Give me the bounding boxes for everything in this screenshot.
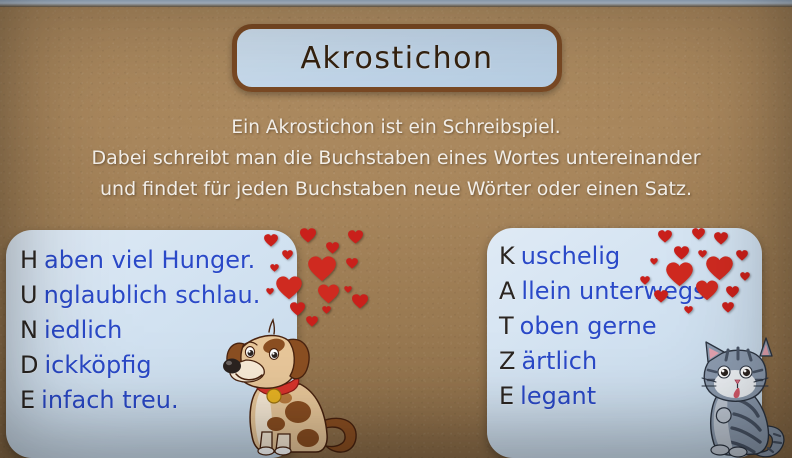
akrostichon-poster: Akrostichon Ein Akrostichon ist ein Schr… bbox=[0, 0, 792, 458]
acrostic-initial: E bbox=[20, 386, 35, 414]
acrostic-word: legant bbox=[520, 382, 596, 410]
acrostic-word: infach treu. bbox=[41, 386, 178, 414]
acrostic-word: iedlich bbox=[44, 316, 122, 344]
acrostic-initial: U bbox=[20, 281, 38, 309]
acrostic-line: K uschelig bbox=[499, 242, 762, 277]
acrostic-word: oben gerne bbox=[520, 312, 657, 340]
acrostic-word: nglaublich schlau. bbox=[44, 281, 261, 309]
acrostic-initial: D bbox=[20, 351, 38, 379]
acrostic-word: llein unterwegs bbox=[521, 277, 705, 305]
acrostic-line: A llein unterwegs bbox=[499, 277, 762, 312]
acrostic-word: ickköpfig bbox=[44, 351, 151, 379]
intro-paragraph: Ein Akrostichon ist ein Schreibspiel. Da… bbox=[0, 112, 792, 205]
acrostic-word: aben viel Hunger. bbox=[44, 246, 255, 274]
page-title: Akrostichon bbox=[300, 41, 493, 76]
acrostic-initial: A bbox=[499, 277, 515, 305]
title-plaque: Akrostichon bbox=[232, 24, 562, 92]
acrostic-word: ärtlich bbox=[521, 347, 597, 375]
acrostic-initial: H bbox=[20, 246, 38, 274]
acrostic-initial: K bbox=[499, 242, 515, 270]
acrostic-line: U nglaublich schlau. bbox=[20, 281, 297, 316]
cat-icon bbox=[694, 334, 790, 458]
acrostic-initial: N bbox=[20, 316, 38, 344]
acrostic-line: H aben viel Hunger. bbox=[20, 246, 297, 281]
acrostic-initial: E bbox=[499, 382, 514, 410]
acrostic-initial: T bbox=[499, 312, 514, 340]
dog-icon bbox=[212, 312, 364, 458]
intro-line-2: Dabei schreibt man die Buchstaben eines … bbox=[0, 143, 792, 174]
intro-line-1: Ein Akrostichon ist ein Schreibspiel. bbox=[0, 112, 792, 143]
acrostic-initial: Z bbox=[499, 347, 515, 375]
intro-line-3: und findet für jeden Buchstaben neue Wör… bbox=[0, 174, 792, 205]
acrostic-word: uschelig bbox=[521, 242, 620, 270]
wall-edge-strip bbox=[0, 0, 792, 7]
